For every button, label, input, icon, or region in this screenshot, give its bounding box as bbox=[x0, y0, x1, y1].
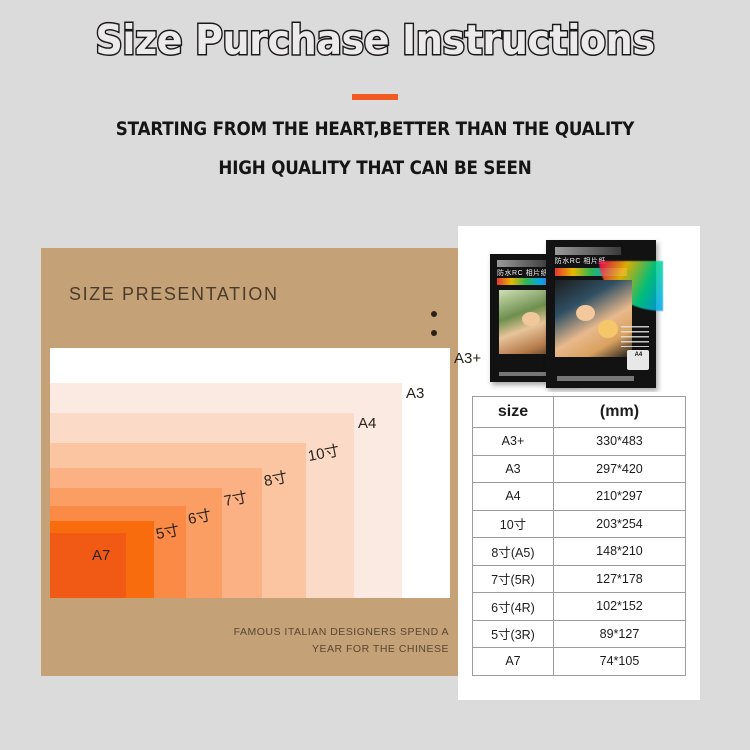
table-row: 8寸(A5)148*210 bbox=[473, 538, 686, 566]
info-card: 防水RC 相片纸 防水RC 相片纸 A4 size (mm) bbox=[458, 226, 700, 700]
brand-bar bbox=[555, 247, 621, 254]
cell-dimensions: 203*254 bbox=[553, 510, 685, 538]
title-divider bbox=[352, 94, 398, 100]
panel-caption-line-2: YEAR FOR THE CHINESE bbox=[234, 641, 449, 658]
table-row: 7寸(5R)127*178 bbox=[473, 565, 686, 593]
table-row: 5寸(3R)89*127 bbox=[473, 620, 686, 648]
table-row: 10寸203*254 bbox=[473, 510, 686, 538]
cell-size: A3 bbox=[473, 455, 554, 483]
puppy bbox=[598, 320, 618, 338]
page-title: Size Purchase Instructions bbox=[26, 16, 724, 64]
brand-bar bbox=[497, 260, 550, 266]
size-rect-label-A3+: A3+ bbox=[454, 350, 481, 367]
nested-size-diagram: A3+A3A410寸8寸7寸6寸5寸A7 bbox=[50, 348, 450, 598]
panel-caption: FAMOUS ITALIAN DESIGNERS SPEND A YEAR FO… bbox=[234, 624, 449, 658]
page-header: Size Purchase Instructions STARTING FROM… bbox=[0, 0, 750, 200]
column-header-size: size bbox=[473, 397, 554, 428]
table-header-row: size (mm) bbox=[473, 397, 686, 428]
cell-dimensions: 127*178 bbox=[553, 565, 685, 593]
column-header-mm: (mm) bbox=[553, 397, 685, 428]
cell-dimensions: 210*297 bbox=[553, 483, 685, 511]
size-presentation-panel: SIZE PRESENTATION A3+A3A410寸8寸7寸6寸5寸A7 F… bbox=[41, 248, 465, 676]
table-row: A3+330*483 bbox=[473, 428, 686, 456]
subtitle-line-2: HIGH QUALITY THAT CAN BE SEEN bbox=[45, 157, 705, 179]
product-box-front: 防水RC 相片纸 A4 bbox=[546, 240, 656, 388]
cell-dimensions: 102*152 bbox=[553, 593, 685, 621]
cell-size: A7 bbox=[473, 648, 554, 676]
decorative-dot-icon bbox=[431, 311, 437, 317]
product-photo: 防水RC 相片纸 防水RC 相片纸 A4 bbox=[468, 232, 690, 392]
size-rect-label-5寸: 5寸 bbox=[154, 518, 181, 543]
child-face bbox=[576, 305, 594, 321]
size-rect-label-8寸: 8寸 bbox=[262, 466, 289, 491]
size-panel-title: SIZE PRESENTATION bbox=[69, 284, 279, 305]
cell-dimensions: 74*105 bbox=[553, 648, 685, 676]
cell-size: 7寸(5R) bbox=[473, 565, 554, 593]
a4-badge: A4 bbox=[627, 350, 649, 371]
subtitle-line-1: STARTING FROM THE HEART,BETTER THAN THE … bbox=[45, 118, 705, 140]
cell-size: 6寸(4R) bbox=[473, 593, 554, 621]
cell-size: 10寸 bbox=[473, 510, 554, 538]
cell-size: 8寸(A5) bbox=[473, 538, 554, 566]
cell-dimensions: 148*210 bbox=[553, 538, 685, 566]
cell-size: A3+ bbox=[473, 428, 554, 456]
cell-size: 5寸(3R) bbox=[473, 620, 554, 648]
decorative-dot-icon bbox=[431, 330, 437, 336]
panel-caption-line-1: FAMOUS ITALIAN DESIGNERS SPEND A bbox=[234, 624, 449, 641]
table-row: 6寸(4R)102*152 bbox=[473, 593, 686, 621]
product-box-back-caption: 防水RC 相片纸 bbox=[497, 268, 548, 278]
size-rect-label-A4: A4 bbox=[358, 415, 376, 432]
cell-dimensions: 330*483 bbox=[553, 428, 685, 456]
box-foot-text bbox=[557, 376, 634, 380]
size-rect-label-6寸: 6寸 bbox=[186, 503, 213, 528]
child-face bbox=[522, 312, 540, 326]
table-row: A4210*297 bbox=[473, 483, 686, 511]
cell-size: A4 bbox=[473, 483, 554, 511]
size-rect-label-A7: A7 bbox=[92, 547, 110, 564]
table-row: A774*105 bbox=[473, 648, 686, 676]
size-rect-label-A3: A3 bbox=[406, 385, 424, 402]
cell-dimensions: 297*420 bbox=[553, 455, 685, 483]
size-rect-label-7寸: 7寸 bbox=[222, 486, 249, 511]
table-row: A3297*420 bbox=[473, 455, 686, 483]
feature-bullets bbox=[621, 326, 650, 347]
cell-dimensions: 89*127 bbox=[553, 620, 685, 648]
size-table: size (mm) A3+330*483A3297*420A4210*29710… bbox=[472, 396, 686, 676]
size-rect-A7 bbox=[50, 533, 126, 598]
